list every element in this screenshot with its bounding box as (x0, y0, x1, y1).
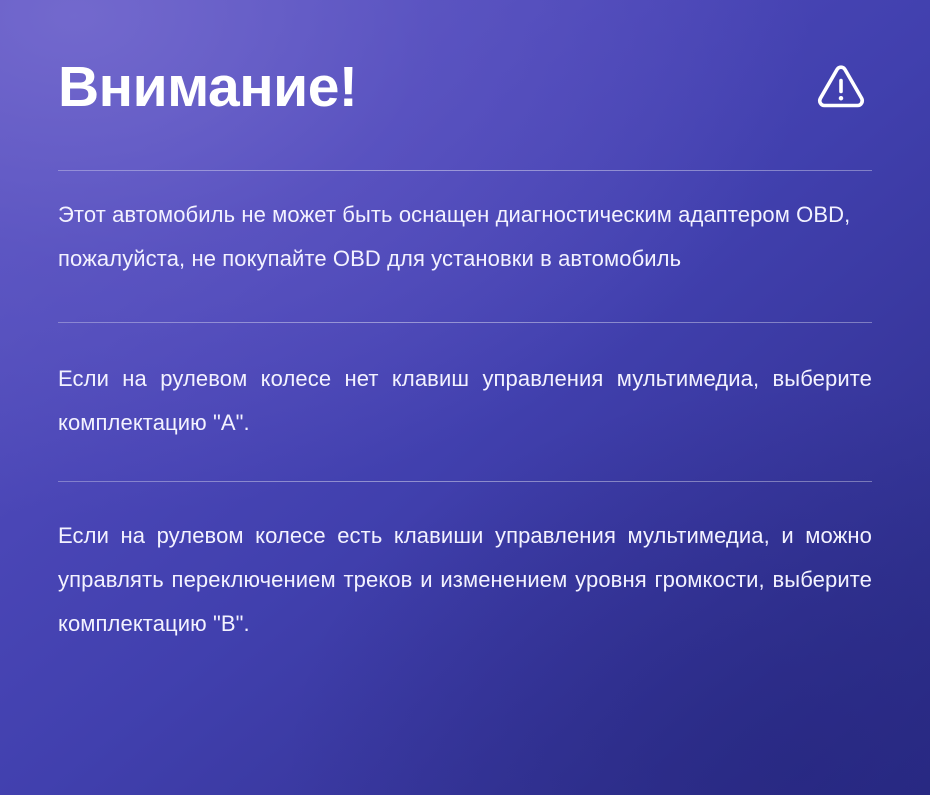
warning-triangle-icon (814, 60, 868, 114)
page-title: Внимание! (58, 59, 357, 116)
notice-block-2: Если на рулевом колесе нет клавиш управл… (58, 323, 872, 481)
notice-paragraph-trim-b: Если на рулевом колесе есть клавиши упра… (58, 514, 872, 646)
notice-content: Внимание! Этот автомобиль не может быть … (0, 0, 930, 646)
notice-block-3: Если на рулевом колесе есть клавиши упра… (58, 482, 872, 646)
notice-header: Внимание! (58, 0, 872, 170)
notice-block-1: Этот автомобиль не может быть оснащен ди… (58, 171, 872, 322)
warning-icon-wrapper (814, 60, 872, 114)
notice-paragraph-obd: Этот автомобиль не может быть оснащен ди… (58, 193, 872, 281)
warning-notice-card: Внимание! Этот автомобиль не может быть … (0, 0, 930, 795)
notice-paragraph-trim-a: Если на рулевом колесе нет клавиш управл… (58, 357, 872, 445)
